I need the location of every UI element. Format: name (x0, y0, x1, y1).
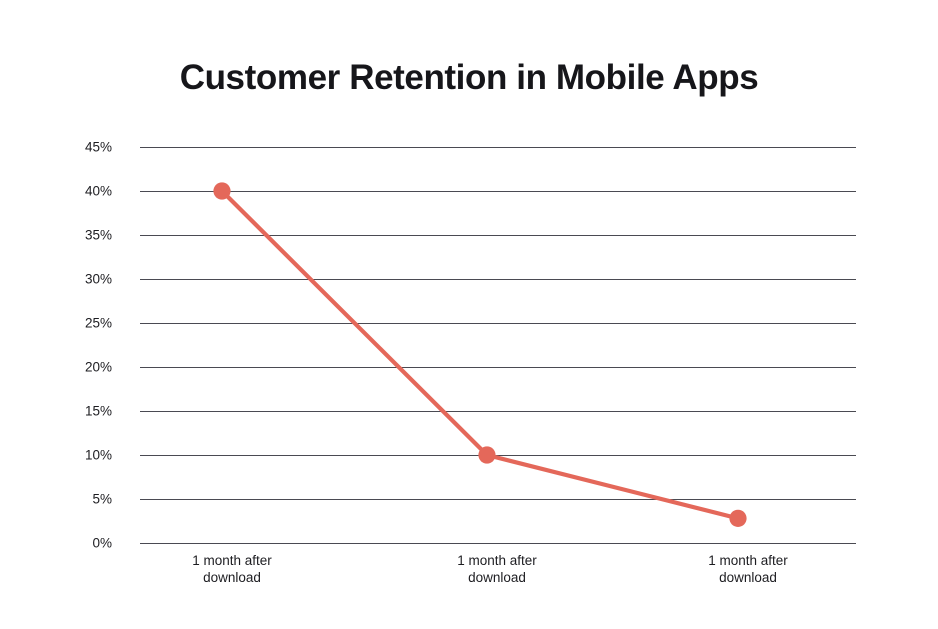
y-axis-tick-label: 25% (52, 316, 112, 330)
y-axis-tick-label: 40% (52, 184, 112, 198)
y-axis-tick-label: 0% (52, 536, 112, 550)
y-axis-tick-label: 10% (52, 448, 112, 462)
data-point-marker[interactable] (213, 182, 230, 199)
x-axis-tick-label-line: 1 month after (137, 552, 327, 569)
data-point-marker[interactable] (478, 446, 495, 463)
data-series-retention (140, 147, 856, 543)
y-axis-tick-label: 45% (52, 140, 112, 154)
x-axis-tick-label-line: 1 month after (402, 552, 592, 569)
x-axis-tick-label-line: download (137, 569, 327, 586)
y-axis-tick-label: 20% (52, 360, 112, 374)
x-axis-tick-label-line: download (402, 569, 592, 586)
y-axis-tick-label: 5% (52, 492, 112, 506)
y-axis-tick-label: 30% (52, 272, 112, 286)
plot-area (140, 147, 856, 543)
data-point-marker[interactable] (729, 510, 746, 527)
y-axis-tick-label: 35% (52, 228, 112, 242)
x-axis-tick-label: 1 month afterdownload (137, 552, 327, 586)
chart-title: Customer Retention in Mobile Apps (0, 58, 938, 98)
series-line (222, 191, 738, 518)
y-axis-tick-label: 15% (52, 404, 112, 418)
chart-container: Customer Retention in Mobile Apps 45%40%… (0, 0, 938, 629)
x-axis-tick-label: 1 month afterdownload (402, 552, 592, 586)
x-axis-tick-label: 1 month afterdownload (653, 552, 843, 586)
x-axis-tick-label-line: 1 month after (653, 552, 843, 569)
x-axis: 1 month afterdownload1 month afterdownlo… (0, 552, 938, 602)
x-axis-tick-label-line: download (653, 569, 843, 586)
